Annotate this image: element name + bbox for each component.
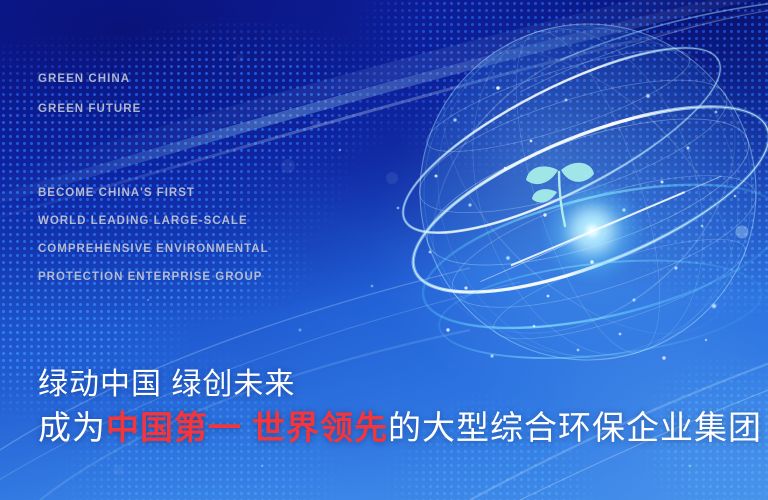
headline-line-1: 绿动中国 绿创未来 <box>38 368 295 402</box>
tagline-line-1: BECOME CHINA'S FIRST <box>38 187 195 199</box>
banner-root: GREEN CHINA GREEN FUTURE BECOME CHINA'S … <box>0 0 768 500</box>
headline-highlight-a: 中国第一 <box>106 409 242 446</box>
headline-prefix: 成为 <box>38 409 106 446</box>
tagline-line-3: COMPREHENSIVE ENVIRONMENTAL <box>38 243 269 255</box>
tagline-line-2: WORLD LEADING LARGE-SCALE <box>38 215 248 227</box>
eyebrow-line-2: GREEN FUTURE <box>38 103 141 115</box>
eyebrow-line-1: GREEN CHINA <box>38 73 130 85</box>
tagline-line-4: PROTECTION ENTERPRISE GROUP <box>38 271 262 283</box>
headline-line-2: 成为中国第一世界领先的大型综合环保企业集团 <box>38 409 762 447</box>
headline-highlight-b: 世界领先 <box>252 409 388 446</box>
headline-suffix: 的大型综合环保企业集团 <box>388 409 762 446</box>
